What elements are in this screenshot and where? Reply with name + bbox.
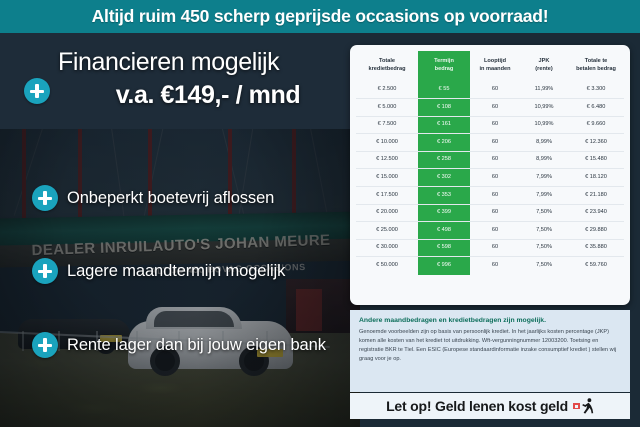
credit-warning-text: Let op! Geld lenen kost geld [386,398,568,414]
cell-total-credit: € 12.500 [356,151,418,169]
headline-block: Financieren mogelijk v.a. €149,- / mnd [58,48,358,110]
headline-line-2: v.a. €149,- / mnd [58,81,358,110]
rates-table-body: € 2.500€ 556011,99%€ 3.300€ 5.000€ 10860… [356,81,624,275]
running-man-glyph [581,398,594,414]
cell-total-credit: € 17.500 [356,187,418,205]
cell-total-payable: € 12.360 [568,134,624,152]
cell-monthly-amount: € 108 [418,99,470,117]
benefit-label: Onbeperkt boetevrij aflossen [67,189,274,208]
headline-line-1: Financieren mogelijk [58,48,358,77]
cell-monthly-amount: € 302 [418,169,470,187]
cell-monthly-amount: € 399 [418,204,470,222]
rates-table-head: Totalekredietbedrag Termijnbedrag Loopti… [356,51,624,81]
table-row: € 7.500€ 1616010,99%€ 9.660 [356,116,624,134]
cell-duration: 60 [470,204,520,222]
cell-total-credit: € 15.000 [356,169,418,187]
cell-monthly-amount: € 996 [418,257,470,275]
cell-total-payable: € 6.480 [568,99,624,117]
column-header-total-credit: Totalekredietbedrag [356,51,418,81]
benefit-item-3: Rente lager dan bij jouw eigen bank [32,332,326,358]
table-row: € 17.500€ 353607,99%€ 21.180 [356,187,624,205]
rates-card: Totalekredietbedrag Termijnbedrag Loopti… [350,45,630,305]
legal-heading: Andere maandbedragen en kredietbedragen … [359,317,621,324]
cell-total-payable: € 15.480 [568,151,624,169]
benefit-item-2: Lagere maandtermijn mogelijk [32,258,285,284]
cell-total-credit: € 7.500 [356,116,418,134]
cell-total-credit: € 2.500 [356,81,418,99]
cell-apr: 7,99% [520,169,568,187]
cell-monthly-amount: € 258 [418,151,470,169]
cell-total-payable: € 29.880 [568,222,624,240]
benefit-label: Rente lager dan bij jouw eigen bank [67,336,326,355]
cell-duration: 60 [470,134,520,152]
cell-total-credit: € 25.000 [356,222,418,240]
cell-apr: 11,99% [520,81,568,99]
top-banner: Altijd ruim 450 scherp geprijsde occasio… [0,0,640,33]
table-row: € 25.000€ 498607,50%€ 29.880 [356,222,624,240]
credit-warning-bar: Let op! Geld lenen kost geld [350,393,630,419]
table-header-row: Totalekredietbedrag Termijnbedrag Loopti… [356,51,624,81]
cell-total-credit: € 50.000 [356,257,418,275]
cell-apr: 7,50% [520,204,568,222]
cell-apr: 8,99% [520,134,568,152]
cell-total-credit: € 20.000 [356,204,418,222]
cell-duration: 60 [470,99,520,117]
running-man-icon [573,398,594,414]
warning-box-glyph [573,403,580,409]
plus-circle-icon [24,78,50,104]
column-header-duration: Looptijdin maanden [470,51,520,81]
cell-duration: 60 [470,169,520,187]
advertisement-canvas: Altijd ruim 450 scherp geprijsde occasio… [0,0,640,427]
cell-apr: 7,50% [520,222,568,240]
cell-duration: 60 [470,81,520,99]
cell-duration: 60 [470,187,520,205]
table-row: € 20.000€ 399607,50%€ 23.940 [356,204,624,222]
table-row: € 12.500€ 258608,99%€ 15.480 [356,151,624,169]
cell-monthly-amount: € 598 [418,239,470,257]
plus-circle-icon [32,258,58,284]
benefit-item-1: Onbeperkt boetevrij aflossen [32,185,274,211]
cell-apr: 10,99% [520,99,568,117]
cell-duration: 60 [470,222,520,240]
table-row: € 2.500€ 556011,99%€ 3.300 [356,81,624,99]
cell-monthly-amount: € 55 [418,81,470,99]
table-row: € 50.000€ 996607,50%€ 59.760 [356,257,624,275]
cell-total-credit: € 30.000 [356,239,418,257]
table-row: € 15.000€ 302607,99%€ 18.120 [356,169,624,187]
cell-duration: 60 [470,116,520,134]
benefit-label: Lagere maandtermijn mogelijk [67,262,285,281]
cell-duration: 60 [470,239,520,257]
cell-apr: 10,99% [520,116,568,134]
cell-apr: 7,50% [520,257,568,275]
cell-duration: 60 [470,151,520,169]
cell-monthly-amount: € 161 [418,116,470,134]
rates-table: Totalekredietbedrag Termijnbedrag Loopti… [356,51,624,275]
cell-total-payable: € 59.760 [568,257,624,275]
table-row: € 10.000€ 206608,99%€ 12.360 [356,134,624,152]
legal-body: Genoemde voorbeelden zijn op basis van p… [359,328,621,364]
cell-monthly-amount: € 206 [418,134,470,152]
column-header-total-payable: Totale tebetalen bedrag [568,51,624,81]
cell-total-payable: € 21.180 [568,187,624,205]
top-banner-text: Altijd ruim 450 scherp geprijsde occasio… [92,6,549,27]
plus-circle-icon [32,185,58,211]
cell-total-payable: € 18.120 [568,169,624,187]
column-header-apr: JPK(rente) [520,51,568,81]
cell-total-credit: € 5.000 [356,99,418,117]
cell-total-payable: € 23.940 [568,204,624,222]
cell-monthly-amount: € 498 [418,222,470,240]
cell-total-payable: € 3.300 [568,81,624,99]
column-header-monthly-amount: Termijnbedrag [418,51,470,81]
cell-apr: 8,99% [520,151,568,169]
cell-monthly-amount: € 353 [418,187,470,205]
cell-total-payable: € 35.880 [568,239,624,257]
cell-apr: 7,50% [520,239,568,257]
table-row: € 30.000€ 598607,50%€ 35.880 [356,239,624,257]
cell-duration: 60 [470,257,520,275]
table-row: € 5.000€ 1086010,99%€ 6.480 [356,99,624,117]
cell-total-credit: € 10.000 [356,134,418,152]
plus-circle-icon [32,332,58,358]
cell-total-payable: € 9.660 [568,116,624,134]
cell-apr: 7,99% [520,187,568,205]
legal-disclaimer: Andere maandbedragen en kredietbedragen … [350,310,630,392]
